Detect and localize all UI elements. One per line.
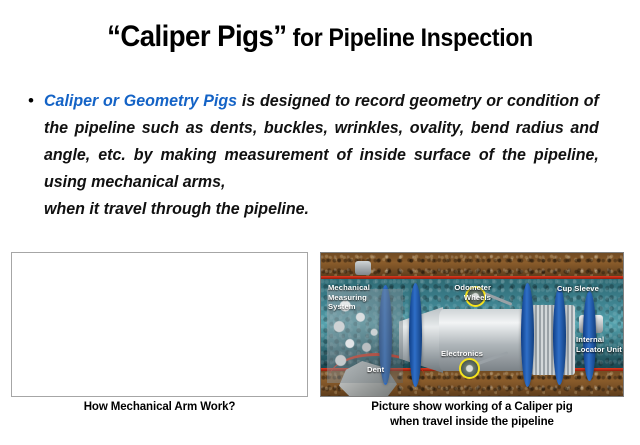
slide-canvas: “Caliper Pigs” for Pipeline Inspection •… bbox=[0, 0, 640, 445]
right-panel-caption: Picture show working of a Caliper pig wh… bbox=[320, 400, 624, 430]
bullet-text-last-line: when it travel through the pipeline. bbox=[44, 196, 599, 223]
electronics-highlight-icon bbox=[459, 358, 480, 379]
label-line-1: Mechanical bbox=[328, 283, 370, 292]
caption-line-1: Picture show working of a Caliper pig bbox=[371, 401, 572, 413]
label-odometer-wheels: Odometer Wheels bbox=[433, 283, 491, 302]
caliper-pig-illustration: Mechanical Measuring System Odometer Whe… bbox=[321, 253, 623, 396]
bullet-marker: • bbox=[28, 88, 44, 114]
mechanical-arm-diagram: Pipe without geometry defects Pipe geome… bbox=[12, 253, 307, 396]
label-mechanical-measuring-system: Mechanical Measuring System bbox=[328, 283, 370, 312]
cup-sleeve-disc-3 bbox=[521, 283, 534, 387]
lead-phrase: Caliper or Geometry Pigs bbox=[44, 92, 237, 110]
label-dent: Dent bbox=[367, 365, 384, 375]
page-title: “Caliper Pigs” for Pipeline Inspection bbox=[26, 20, 615, 53]
title-quoted-part: “Caliper Pigs” bbox=[107, 20, 286, 53]
cup-sleeve-disc-2 bbox=[409, 283, 422, 387]
bullet-paragraph: • Caliper or Geometry Pigs is designed t… bbox=[28, 88, 616, 223]
label-line-1: Internal bbox=[576, 335, 604, 344]
label-line-2: Measuring bbox=[328, 293, 367, 302]
label-line-2: Locator Unit bbox=[576, 345, 622, 354]
arm-hub bbox=[355, 261, 371, 275]
pipe-wall-top bbox=[321, 276, 623, 279]
right-photo-panel: Mechanical Measuring System Odometer Whe… bbox=[320, 252, 624, 397]
label-cup-sleeve: Cup Sleeve bbox=[557, 284, 599, 294]
title-rest-part: for Pipeline Inspection bbox=[286, 24, 532, 52]
label-line-3: System bbox=[328, 302, 356, 311]
left-panel-caption: How Mechanical Arm Work? bbox=[11, 400, 308, 415]
cup-sleeve-disc-4 bbox=[553, 287, 566, 385]
caption-line-2: when travel inside the pipeline bbox=[390, 416, 554, 428]
bullet-text: Caliper or Geometry Pigs is designed to … bbox=[44, 88, 599, 223]
label-line-1: Odometer bbox=[454, 283, 491, 292]
label-line-2: Wheels bbox=[464, 293, 491, 302]
left-diagram-panel: Pipe without geometry defects Pipe geome… bbox=[11, 252, 308, 397]
label-electronics: Electronics bbox=[441, 349, 483, 359]
label-internal-locator-unit: Internal Locator Unit bbox=[576, 335, 622, 354]
